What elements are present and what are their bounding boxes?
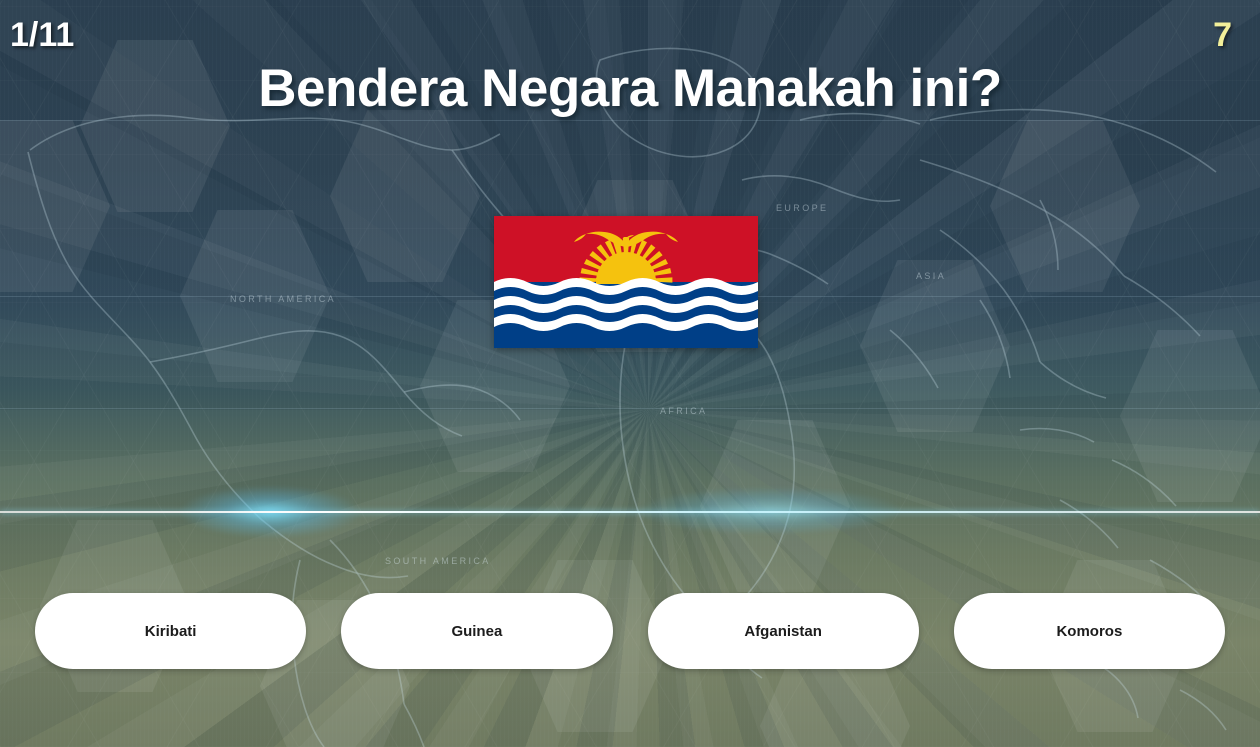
map-label-north-america: NORTH AMERICA [230,294,336,304]
map-label-south-america: SOUTH AMERICA [385,556,491,566]
quiz-screen: NORTH AMERICA ASIA EUROPE AFRICA SOUTH A… [0,0,1260,747]
question-progress-counter: 1/11 [10,16,74,55]
answer-options: Kiribati Guinea Afganistan Komoros [35,593,1225,669]
horizontal-divider [0,511,1260,513]
map-label-europe: EUROPE [776,203,828,213]
map-label-africa: AFRICA [660,406,707,416]
guide-line [0,408,1260,409]
answer-button-1[interactable]: Kiribati [35,593,306,669]
answer-button-2[interactable]: Guinea [341,593,612,669]
question-title: Bendera Negara Manakah ini? [0,58,1260,119]
guide-line [0,120,1260,121]
answer-button-4[interactable]: Komoros [954,593,1225,669]
map-label-asia: ASIA [916,271,946,281]
kiribati-flag [494,216,758,348]
answer-button-3[interactable]: Afganistan [648,593,919,669]
countdown-timer: 7 [1213,16,1232,55]
